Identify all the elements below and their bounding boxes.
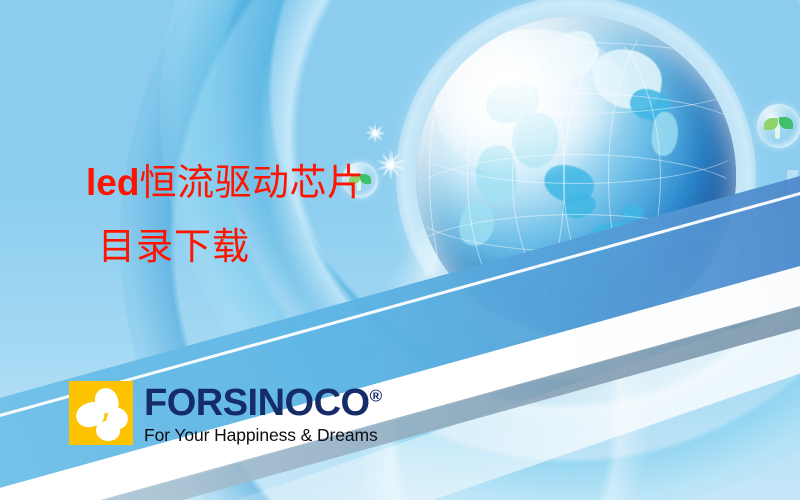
company-logo: FORSINOCO® For Your Happiness & Dreams — [69, 381, 382, 445]
registered-trademark-icon: ® — [370, 386, 382, 405]
headline-line-2: 目录下载 — [98, 224, 364, 270]
headline: led恒流驱动芯片 目录下载 — [86, 160, 364, 270]
headline-led-text: led — [86, 162, 139, 203]
company-wordmark: FORSINOCO® — [144, 384, 382, 422]
headline-line-1: led恒流驱动芯片 — [86, 160, 364, 206]
logo-text-block: FORSINOCO® For Your Happiness & Dreams — [144, 381, 382, 445]
starburst-small — [364, 122, 386, 144]
globe-rim — [416, 16, 736, 336]
petal-bottom — [95, 420, 121, 442]
wordmark-text: FORSINOCO — [144, 382, 370, 424]
headline-chinese-text: 恒流驱动芯片 — [139, 161, 364, 204]
blue-earth-globe — [416, 16, 736, 336]
bubble-sprout-right — [757, 104, 800, 148]
starburst-large — [374, 148, 408, 182]
bubble-sprout-middle — [497, 325, 545, 373]
four-petal-flower-mark-icon — [69, 381, 133, 445]
company-tagline: For Your Happiness & Dreams — [144, 425, 382, 445]
banner: led恒流驱动芯片 目录下载 FORSINOCO® For Your Happi… — [0, 0, 800, 500]
